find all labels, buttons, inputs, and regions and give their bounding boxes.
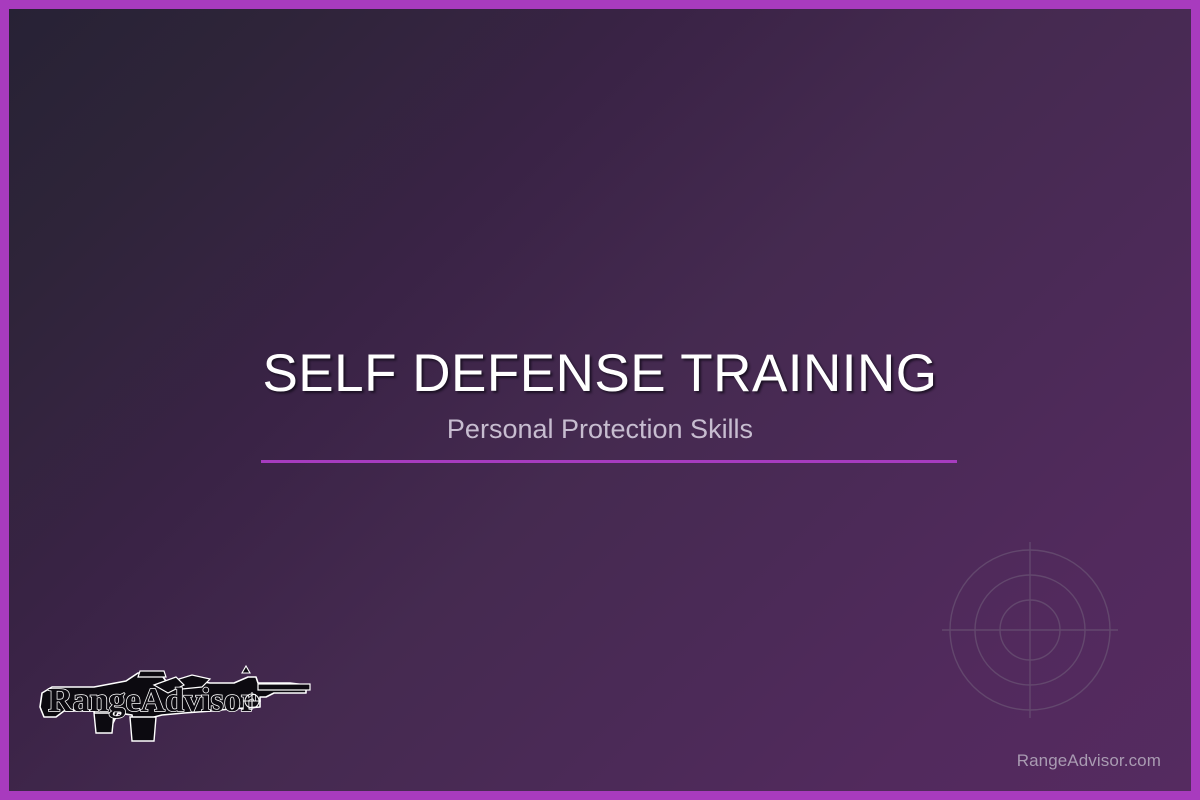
page-title: SELF DEFENSE TRAINING [9, 346, 1191, 402]
slide-frame: SELF DEFENSE TRAINING Personal Protectio… [0, 0, 1200, 800]
rangeadvisor-rifle-logo: RangeAdvisor [34, 663, 314, 743]
page-subtitle: Personal Protection Skills [9, 415, 1191, 445]
footer-url: RangeAdvisor.com [1017, 751, 1161, 771]
title-block: SELF DEFENSE TRAINING Personal Protectio… [9, 346, 1191, 445]
accent-divider [261, 460, 957, 463]
logo-wordmark: RangeAdvisor [48, 682, 256, 719]
slide-canvas: SELF DEFENSE TRAINING Personal Protectio… [9, 9, 1191, 791]
crosshair-target-icon [941, 541, 1119, 719]
